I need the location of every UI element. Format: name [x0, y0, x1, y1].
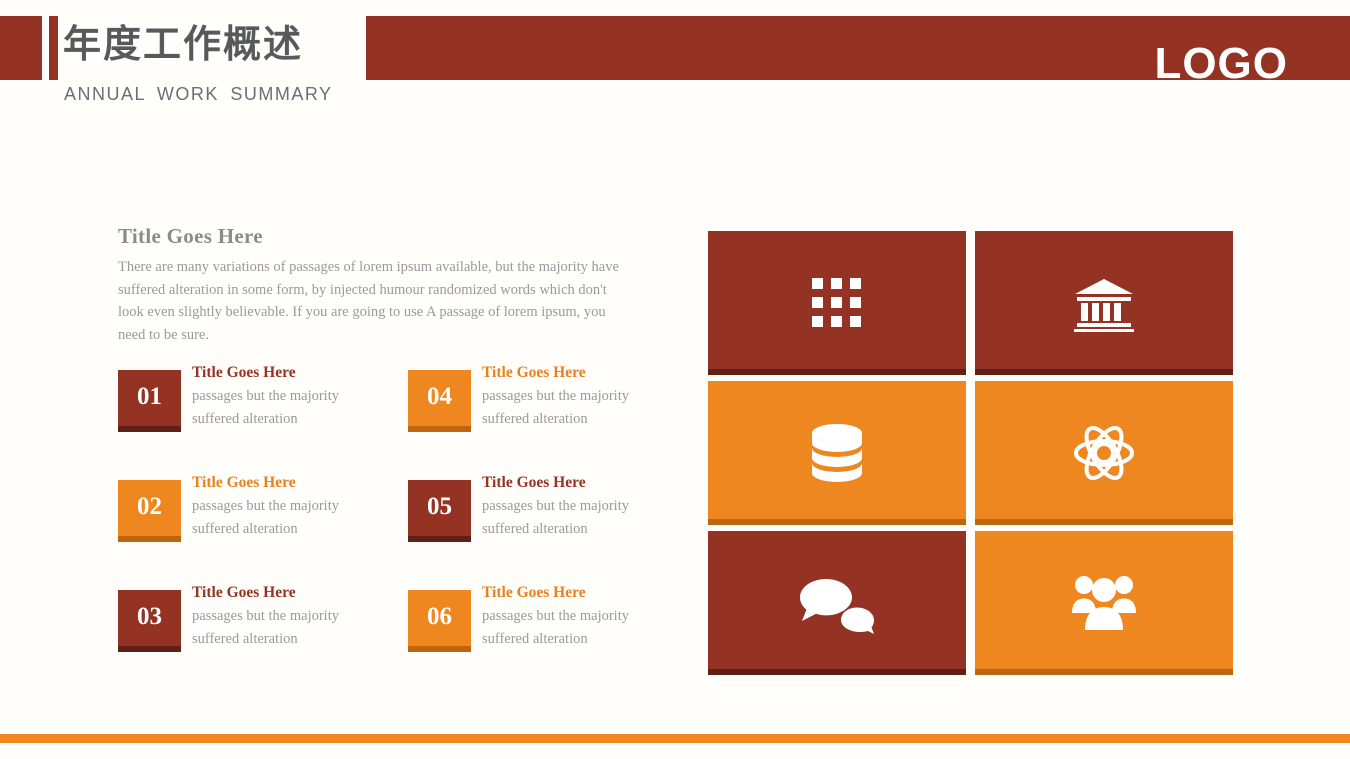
icon-tile-atom[interactable]	[975, 381, 1233, 525]
item-desc-line1: passages but the majority	[192, 495, 339, 518]
numbered-items-grid: 01 Title Goes Here passages but the majo…	[118, 363, 698, 693]
item-desc-line2: suffered alteration	[192, 518, 339, 541]
item-desc-line1: passages but the majority	[482, 385, 629, 408]
icon-tiles-grid	[708, 231, 1241, 681]
icon-tile-chat[interactable]	[708, 531, 966, 675]
page-title-chinese: 年度工作概述	[63, 22, 303, 68]
intro-body-text: There are many variations of passages of…	[118, 256, 628, 346]
icon-tile-grid[interactable]	[708, 231, 966, 375]
item-number-box: 01	[118, 370, 181, 426]
item-desc-line2: suffered alteration	[192, 408, 339, 431]
tile-row	[708, 381, 1241, 525]
header-accent-bar-wide	[0, 16, 42, 80]
item-number-box: 06	[408, 590, 471, 646]
item-number-box-shadow	[118, 646, 181, 652]
item-number-box-shadow	[408, 536, 471, 542]
list-item[interactable]: 04 Title Goes Here passages but the majo…	[408, 363, 698, 473]
page-subtitle-english: ANNUAL WORK SUMMARY	[64, 84, 333, 105]
item-number: 04	[427, 384, 452, 409]
list-item[interactable]: 03 Title Goes Here passages but the majo…	[118, 583, 408, 693]
chat-bubbles-icon	[800, 572, 874, 634]
icon-tile-bank[interactable]	[975, 231, 1233, 375]
item-number: 06	[427, 604, 452, 629]
grid-icon	[808, 274, 866, 332]
item-text: Title Goes Here passages but the majorit…	[482, 583, 629, 651]
tile-shadow	[975, 669, 1233, 675]
footer-accent-bar	[0, 734, 1350, 743]
item-row: 01 Title Goes Here passages but the majo…	[118, 363, 698, 473]
database-icon	[808, 423, 866, 483]
list-item[interactable]: 05 Title Goes Here passages but the majo…	[408, 473, 698, 583]
tile-shadow	[708, 669, 966, 675]
item-title: Title Goes Here	[192, 473, 339, 493]
item-title: Title Goes Here	[192, 583, 339, 603]
header-color-band: LOGO	[366, 16, 1350, 80]
item-desc-line1: passages but the majority	[192, 385, 339, 408]
item-desc-line1: passages but the majority	[482, 605, 629, 628]
item-text: Title Goes Here passages but the majorit…	[192, 363, 339, 431]
tile-row	[708, 231, 1241, 375]
users-group-icon	[1071, 573, 1137, 633]
item-number-box: 04	[408, 370, 471, 426]
tile-row	[708, 531, 1241, 675]
item-desc-line2: suffered alteration	[482, 408, 629, 431]
item-row: 02 Title Goes Here passages but the majo…	[118, 473, 698, 583]
atom-icon	[1072, 421, 1136, 485]
item-title: Title Goes Here	[482, 583, 629, 603]
bank-icon	[1073, 274, 1135, 332]
item-row: 03 Title Goes Here passages but the majo…	[118, 583, 698, 693]
item-desc-line2: suffered alteration	[192, 628, 339, 651]
item-text: Title Goes Here passages but the majorit…	[482, 473, 629, 541]
item-text: Title Goes Here passages but the majorit…	[192, 583, 339, 651]
tile-shadow	[708, 369, 966, 375]
list-item[interactable]: 02 Title Goes Here passages but the majo…	[118, 473, 408, 583]
item-number: 03	[137, 604, 162, 629]
icon-tile-database[interactable]	[708, 381, 966, 525]
tile-shadow	[708, 519, 966, 525]
item-number-box-shadow	[118, 536, 181, 542]
item-desc-line1: passages but the majority	[482, 495, 629, 518]
intro-block: Title Goes Here There are many variation…	[118, 224, 648, 346]
list-item[interactable]: 01 Title Goes Here passages but the majo…	[118, 363, 408, 473]
item-desc-line2: suffered alteration	[482, 518, 629, 541]
item-desc-line1: passages but the majority	[192, 605, 339, 628]
item-number: 02	[137, 494, 162, 519]
list-item[interactable]: 06 Title Goes Here passages but the majo…	[408, 583, 698, 693]
item-title: Title Goes Here	[192, 363, 339, 383]
intro-title: Title Goes Here	[118, 224, 648, 249]
header-accent-bar-thin	[49, 16, 58, 80]
item-text: Title Goes Here passages but the majorit…	[192, 473, 339, 541]
icon-tile-users[interactable]	[975, 531, 1233, 675]
item-text: Title Goes Here passages but the majorit…	[482, 363, 629, 431]
item-number-box: 03	[118, 590, 181, 646]
item-number-box-shadow	[408, 646, 471, 652]
item-desc-line2: suffered alteration	[482, 628, 629, 651]
tile-shadow	[975, 519, 1233, 525]
tile-shadow	[975, 369, 1233, 375]
item-number-box-shadow	[408, 426, 471, 432]
item-number-box: 05	[408, 480, 471, 536]
item-title: Title Goes Here	[482, 473, 629, 493]
item-number-box: 02	[118, 480, 181, 536]
item-title: Title Goes Here	[482, 363, 629, 383]
item-number: 05	[427, 494, 452, 519]
logo-text: LOGO	[1154, 36, 1288, 92]
slide-header: 年度工作概述 ANNUAL WORK SUMMARY LOGO	[0, 0, 1350, 110]
item-number-box-shadow	[118, 426, 181, 432]
item-number: 01	[137, 384, 162, 409]
